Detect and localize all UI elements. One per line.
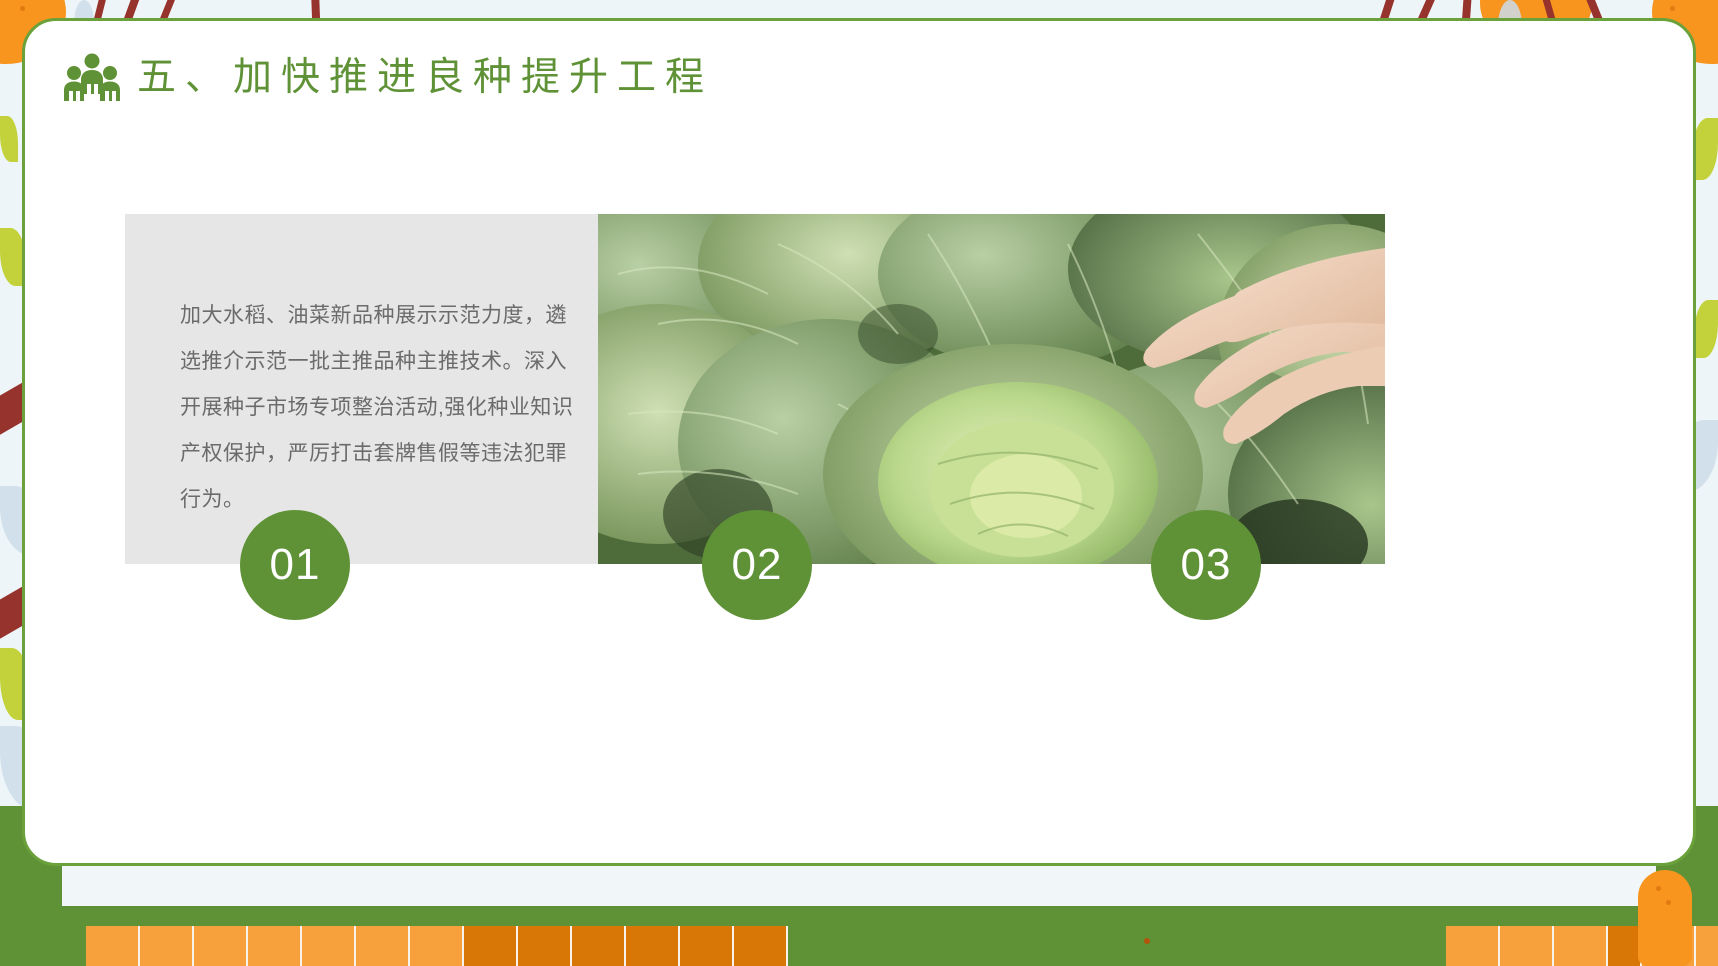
slide-card: 五、加快推进良种提升工程 加大水稻、油菜新品种展示示范力度，遴选推介示范一批主推…: [22, 18, 1696, 866]
pumpkin-dot: [1670, 6, 1675, 11]
corn-cell: [572, 926, 626, 966]
corn-cell: [626, 926, 680, 966]
corn-cell: [410, 926, 464, 966]
step-badge-01[interactable]: 01: [240, 510, 350, 620]
group-people-icon: [63, 53, 121, 101]
text-panel: 加大水稻、油菜新品种展示示范力度，遴选推介示范一批主推品种主推技术。深入开展种子…: [125, 214, 600, 564]
body-paragraph: 加大水稻、油菜新品种展示示范力度，遴选推介示范一批主推品种主推技术。深入开展种子…: [180, 293, 580, 523]
corn-cell: [140, 926, 194, 966]
step-badge-03[interactable]: 03: [1151, 510, 1261, 620]
carrot-dot: [1656, 886, 1661, 891]
corn-cell: [302, 926, 356, 966]
corn-cell: [86, 926, 140, 966]
slide-header: 五、加快推进良种提升工程: [63, 53, 713, 101]
corn-cell: [680, 926, 734, 966]
page-title: 五、加快推进良种提升工程: [137, 58, 713, 97]
step-badge-02[interactable]: 02: [702, 510, 812, 620]
corn-cell: [1608, 926, 1642, 966]
cabbage-photo: [598, 214, 1385, 564]
pumpkin-dot: [20, 6, 25, 11]
corn-cell: [464, 926, 518, 966]
corn-cell: [1446, 926, 1500, 966]
content-band: 加大水稻、油菜新品种展示示范力度，遴选推介示范一批主推品种主推技术。深入开展种子…: [125, 214, 1485, 564]
carrot-dot: [1666, 900, 1671, 905]
corn-cell: [1696, 926, 1718, 966]
corn-cell: [356, 926, 410, 966]
carrot-icon: [1638, 870, 1692, 966]
corn-cell: [734, 926, 788, 966]
corn-cell: [1554, 926, 1608, 966]
corn-cell: [518, 926, 572, 966]
corn-strip-left: [86, 926, 788, 966]
corn-cell: [194, 926, 248, 966]
corn-cell: [1500, 926, 1554, 966]
corn-dot: [1144, 938, 1150, 944]
corn-cell: [248, 926, 302, 966]
